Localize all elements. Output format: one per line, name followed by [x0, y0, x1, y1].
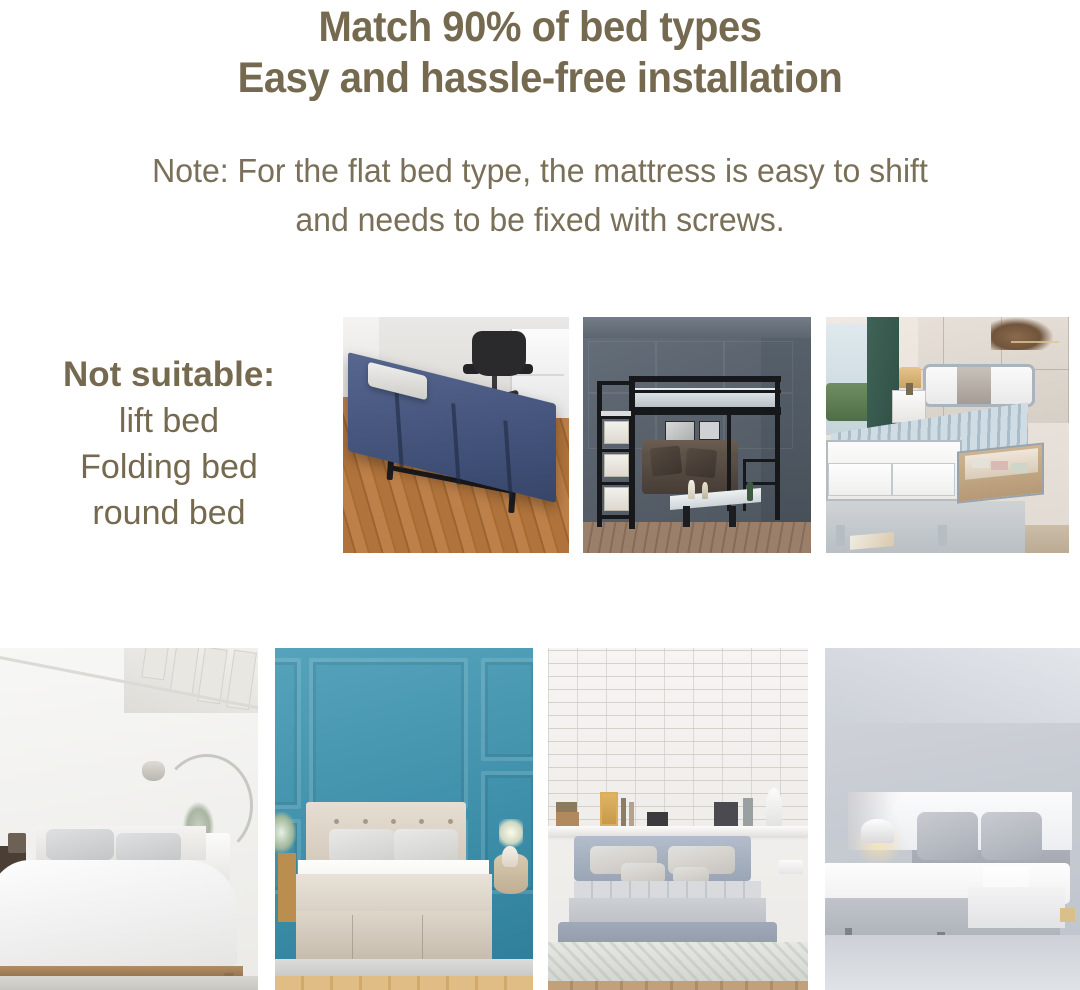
headline-line-2: Easy and hassle-free installation [38, 52, 1042, 104]
not-suitable-title: Not suitable: [14, 352, 324, 398]
not-suitable-block: Not suitable: lift bed Folding bed round… [14, 352, 324, 536]
headline-block: Match 90% of bed types Easy and hassle-f… [0, 2, 1080, 104]
not-suitable-item-lift-bed: lift bed [14, 398, 324, 444]
lift-storage-bed-photo [826, 317, 1069, 553]
loft-bed-photo [583, 317, 811, 553]
brick-wall-platform-bed-photo [548, 648, 808, 990]
note-block: Note: For the flat bed type, the mattres… [0, 146, 1080, 244]
infographic-page: Match 90% of bed types Easy and hassle-f… [0, 0, 1080, 990]
teal-wall-upholstered-bed-photo [275, 648, 533, 990]
not-suitable-item-round-bed: round bed [14, 490, 324, 536]
headline-line-1: Match 90% of bed types [38, 2, 1042, 52]
folding-bed-photo [343, 317, 569, 553]
not-suitable-item-folding-bed: Folding bed [14, 444, 324, 490]
note-line-2: and needs to be fixed with screws. [16, 195, 1064, 244]
white-minimal-bedroom-photo [0, 648, 258, 990]
marble-headboard-bed-photo [825, 648, 1080, 990]
note-line-1: Note: For the flat bed type, the mattres… [16, 146, 1064, 195]
